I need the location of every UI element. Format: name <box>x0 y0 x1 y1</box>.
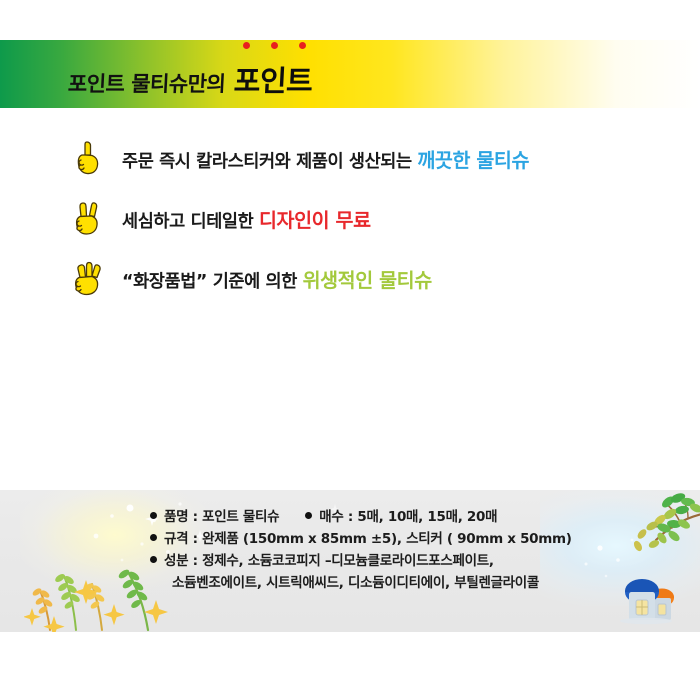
bullet-icon <box>150 512 157 519</box>
feature-text: 세심하고 디테일한 디자인이 무료 <box>122 204 371 233</box>
page-root: 포인트 물티슈만의 포인트 주문 즉시 칼라스티커와 <box>0 0 700 700</box>
mushroom-houses-icon <box>618 574 678 628</box>
spec-ingredients: 성분 : 정제수, 소듐코코피지 –디모늄클로라이드포스페이트, <box>164 549 494 569</box>
spec-row-size: 규격 : 완제품 (150mm x 85mm ±5), 스티커 ( 90mm x… <box>150 526 620 548</box>
spec-row-ingredients: 성분 : 정제수, 소듐코코피지 –디모늄클로라이드포스페이트, <box>150 548 620 570</box>
feature-list: 주문 즉시 칼라스티커와 제품이 생산되는 깨끗한 물티슈 세심하고 <box>0 128 700 308</box>
bullet-icon <box>305 512 312 519</box>
feature-text-plain: “화장품법” 기준에 의한 <box>122 272 297 292</box>
feature-text-highlight: 디자인이 무료 <box>259 209 371 232</box>
header-content: 포인트 물티슈만의 포인트 <box>0 40 700 108</box>
spec-sheet-count: 매수 : 5매, 10매, 15매, 20매 <box>319 505 497 525</box>
accent-dot-icon <box>243 42 250 49</box>
accent-dot-icon <box>271 42 278 49</box>
header-accent-dots <box>72 42 306 49</box>
header-title-group: 포인트 물티슈만의 포인트 <box>68 58 313 100</box>
feature-item: 주문 즉시 칼라스티커와 제품이 생산되는 깨끗한 물티슈 <box>0 128 700 188</box>
feature-text-plain: 주문 즉시 칼라스티커와 제품이 생산되는 <box>122 152 412 172</box>
leaf-branch-icon <box>618 492 700 564</box>
bullet-icon <box>150 534 157 541</box>
hand-three-fingers-icon <box>72 257 106 299</box>
feature-item: 세심하고 디테일한 디자인이 무료 <box>0 188 700 248</box>
feature-item: “화장품법” 기준에 의한 위생적인 물티슈 <box>0 248 700 308</box>
spec-ingredients-continued: 소듐벤조에이트, 시트릭애씨드, 디소듐이디티에이, 부틸렌글라이콜 <box>172 571 539 591</box>
feature-text-highlight: 위생적인 물티슈 <box>303 269 432 292</box>
header-title-normal: 포인트 물티슈만의 <box>67 68 226 98</box>
feature-text: “화장품법” 기준에 의한 위생적인 물티슈 <box>122 264 432 293</box>
hand-two-fingers-icon <box>72 197 106 239</box>
feature-text-plain: 세심하고 디테일한 <box>122 212 253 232</box>
hand-one-finger-icon <box>72 137 106 179</box>
spec-row-name: 품명 : 포인트 물티슈 매수 : 5매, 10매, 15매, 20매 <box>150 504 620 526</box>
spec-product-name: 품명 : 포인트 물티슈 <box>164 505 279 525</box>
spec-size: 규격 : 완제품 (150mm x 85mm ±5), 스티커 ( 90mm x… <box>164 527 572 547</box>
footer-band: 품명 : 포인트 물티슈 매수 : 5매, 10매, 15매, 20매 규격 :… <box>0 490 700 632</box>
accent-dot-icon <box>299 42 306 49</box>
bullet-icon <box>150 556 157 563</box>
header-title-bold: 포인트 <box>233 58 314 100</box>
feature-text-highlight: 깨끗한 물티슈 <box>417 149 529 172</box>
feature-text: 주문 즉시 칼라스티커와 제품이 생산되는 깨끗한 물티슈 <box>122 144 529 173</box>
spec-row-ingredients-cont: 소듐벤조에이트, 시트릭애씨드, 디소듐이디티에이, 부틸렌글라이콜 <box>150 570 620 592</box>
footer-spec-list: 품명 : 포인트 물티슈 매수 : 5매, 10매, 15매, 20매 규격 :… <box>150 504 620 592</box>
